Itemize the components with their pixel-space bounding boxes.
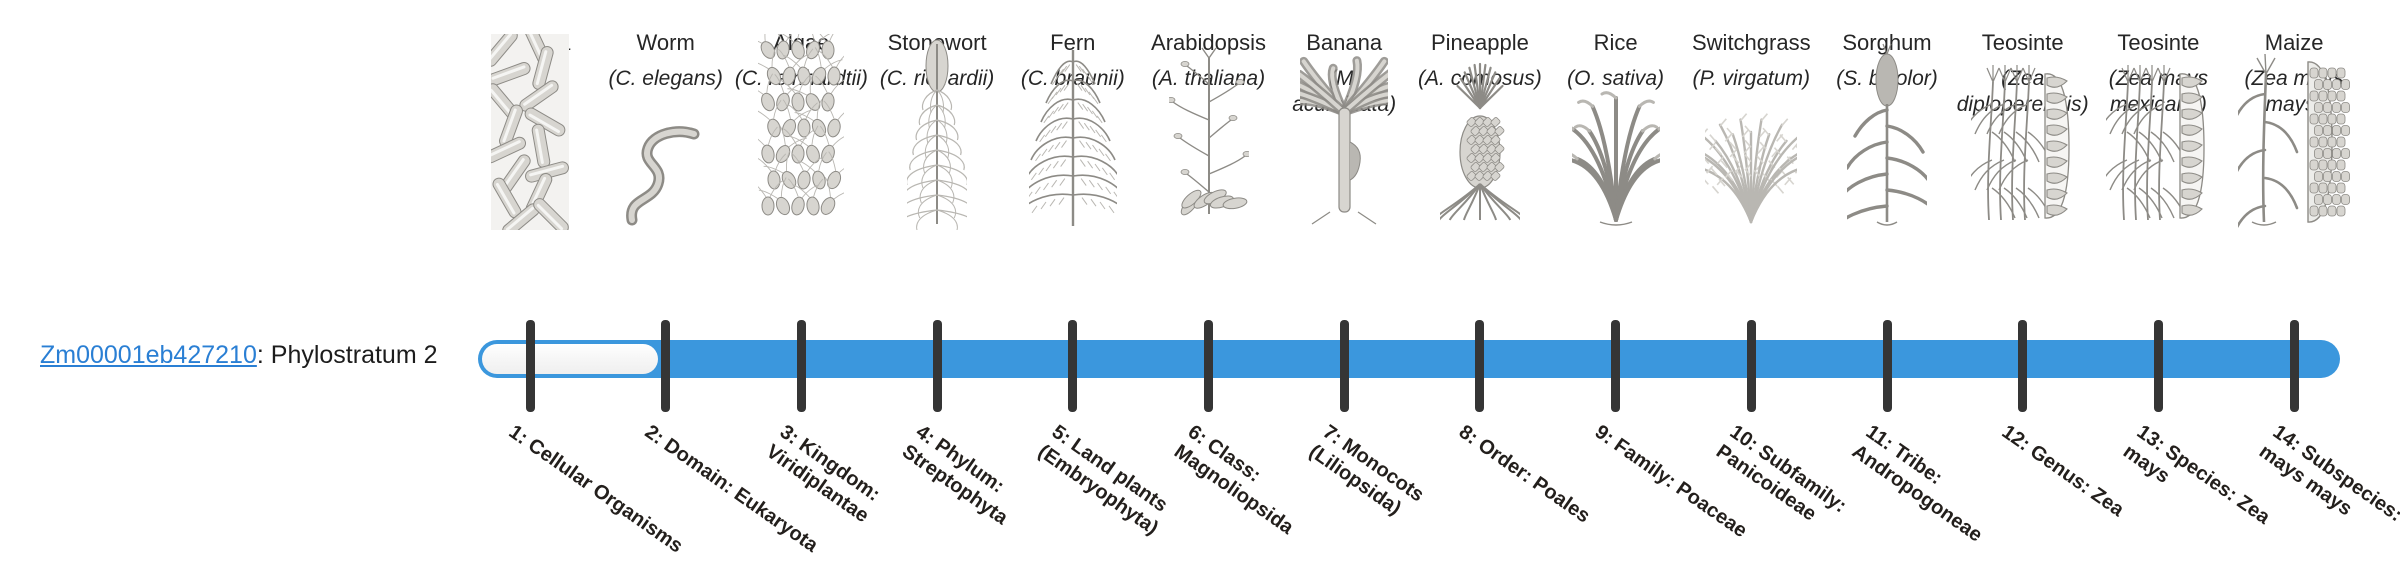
phylostratum-track-panel: Zm00001eb427210: Phylostratum 2 Bacteria… [0,0,2400,580]
rank-labels: 1: Cellular Organisms2: Domain: Eukaryot… [0,0,2400,580]
